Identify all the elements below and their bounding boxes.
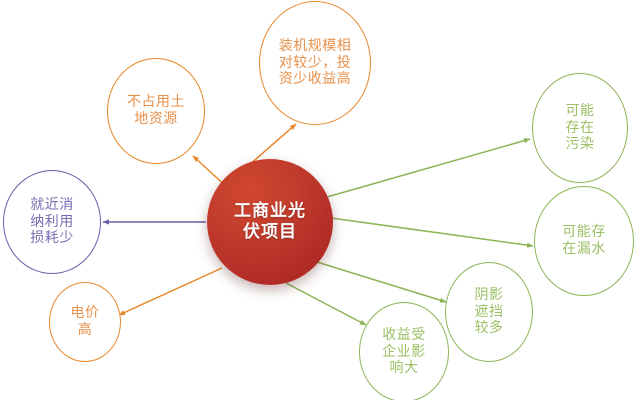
- diagram-canvas: 工商业光 伏项目 装机规模相 对较少，投 资少收益高不占用土 地资源就近消 纳利…: [0, 0, 640, 400]
- node-high-electricity-price[interactable]: 电价 高: [49, 282, 121, 362]
- node-no-land-use[interactable]: 不占用土 地资源: [107, 58, 205, 164]
- node-label-capacity-scale: 装机规模相 对较少，投 资少收益高: [275, 38, 356, 88]
- node-label-possible-leakage: 可能存 在漏水: [558, 224, 610, 257]
- node-capacity-scale[interactable]: 装机规模相 对较少，投 资少收益高: [259, 1, 371, 125]
- node-local-consumption[interactable]: 就近消 纳利用 损耗少: [3, 170, 101, 274]
- center-node-label: 工商业光 伏项目: [234, 201, 306, 244]
- node-layer: 工商业光 伏项目 装机规模相 对较少，投 资少收益高不占用土 地资源就近消 纳利…: [0, 0, 640, 400]
- node-possible-leakage[interactable]: 可能存 在漏水: [534, 186, 634, 296]
- node-shadow-blocking[interactable]: 阴影 遮挡 较多: [445, 262, 533, 362]
- node-possible-pollution[interactable]: 可能 存在 污染: [532, 73, 628, 183]
- node-label-high-electricity-price: 电价 高: [67, 305, 104, 338]
- node-label-local-consumption: 就近消 纳利用 损耗少: [26, 197, 78, 247]
- node-label-shadow-blocking: 阴影 遮挡 较多: [471, 287, 508, 337]
- node-label-profit-enterprise-dependent: 收益受 企业影 响大: [378, 327, 430, 377]
- node-label-possible-pollution: 可能 存在 污染: [562, 103, 599, 153]
- center-node-industrial-commercial-pv-project[interactable]: 工商业光 伏项目: [207, 159, 333, 285]
- node-label-no-land-use: 不占用土 地资源: [123, 94, 189, 127]
- node-profit-enterprise-dependent[interactable]: 收益受 企业影 响大: [359, 302, 449, 400]
